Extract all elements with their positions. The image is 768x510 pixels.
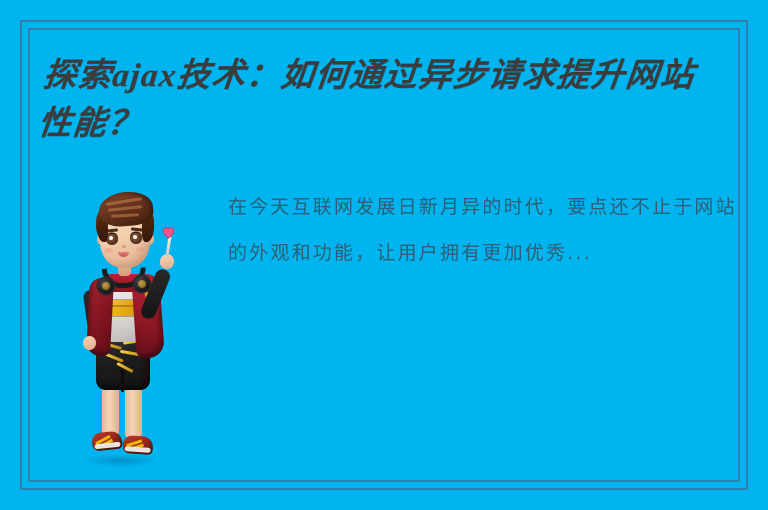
headphone-earcup-right — [134, 276, 150, 292]
page-title: 探索ajax技术：如何通过异步请求提升网站性能？ — [36, 52, 716, 148]
headphone-earcup-left — [98, 278, 114, 294]
nose — [122, 245, 126, 248]
left-sneaker — [91, 430, 123, 451]
article-excerpt-block: 在今天互联网发展日新月异的时代，要点还不止于网站的外观和功能，让用户拥有更加优秀… — [228, 184, 740, 276]
article-excerpt: 在今天互联网发展日新月异的时代，要点还不止于网站的外观和功能，让用户拥有更加优秀… — [228, 184, 740, 276]
right-eye — [130, 233, 142, 244]
right-blush — [136, 247, 145, 252]
poster-canvas: 探索ajax技术：如何通过异步请求提升网站性能？ 在今天互联网发展日新月异的时代… — [0, 0, 768, 510]
left-hand — [83, 336, 96, 350]
left-blush — [104, 248, 113, 253]
shorts-center-seam — [121, 370, 124, 392]
right-sneaker — [122, 435, 153, 455]
article-title-block: 探索ajax技术：如何通过异步请求提升网站性能？ — [46, 52, 716, 148]
ground-shadow — [82, 454, 160, 467]
heart-lollipop-icon — [160, 224, 177, 240]
chibi-boy-character-illustration — [68, 182, 180, 472]
